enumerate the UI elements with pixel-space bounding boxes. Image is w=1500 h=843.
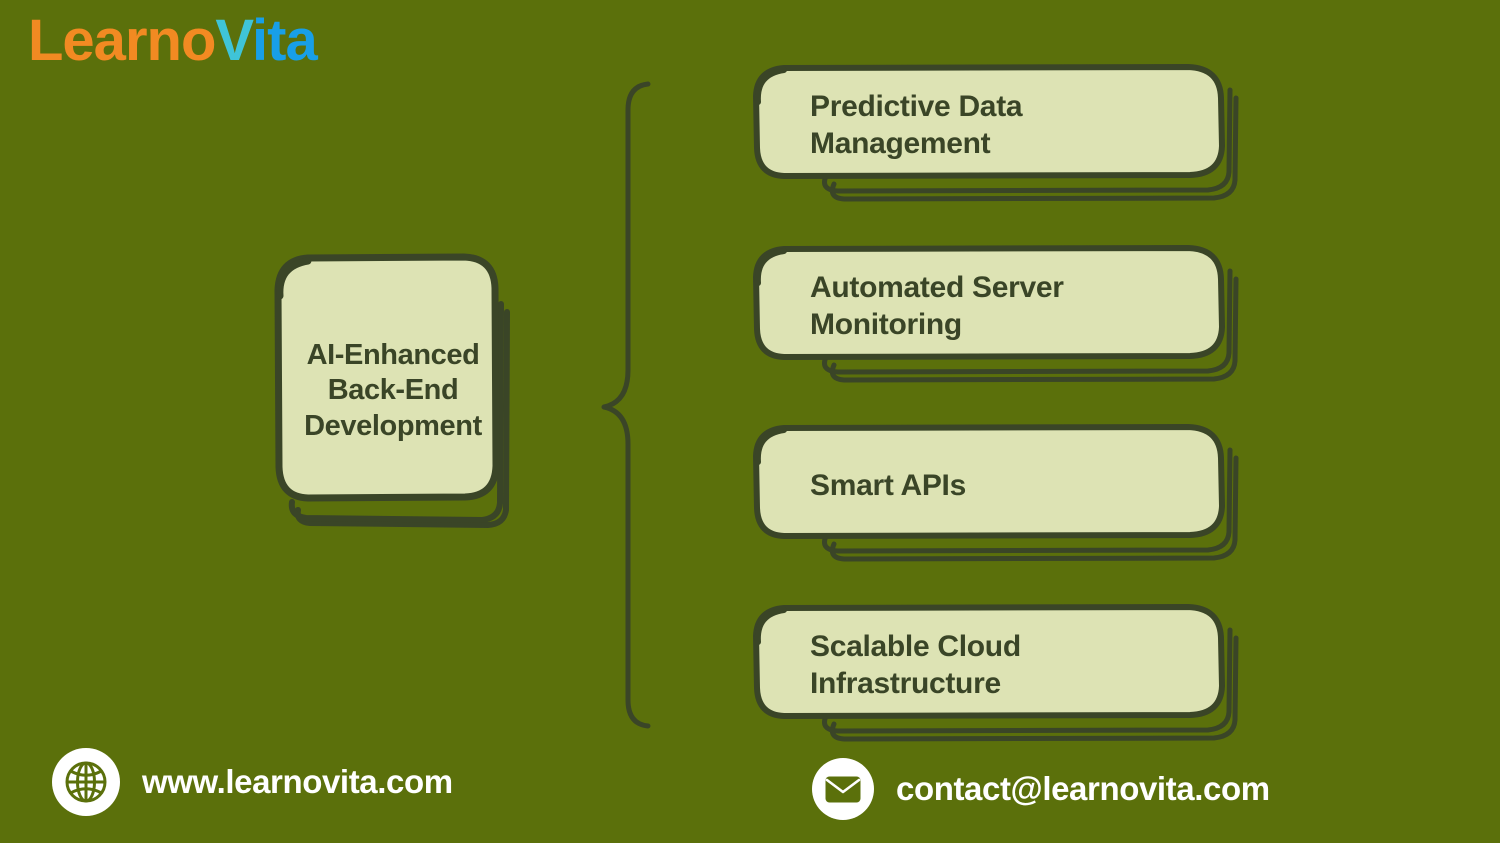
central-node-card[interactable]: AI-Enhanced Back-End Development: [268, 252, 518, 530]
central-node-label: AI-Enhanced Back-End Development: [282, 252, 504, 530]
branch-label: Scalable Cloud Infrastructure: [810, 602, 1218, 730]
branch-card[interactable]: Smart APIs: [748, 422, 1248, 550]
globe-icon: [52, 748, 120, 816]
footer-email[interactable]: contact@learnovita.com: [812, 758, 1270, 820]
logo-text-v: V: [215, 8, 252, 73]
footer-website[interactable]: www.learnovita.com: [52, 748, 453, 816]
curly-brace-icon: [598, 80, 678, 730]
branch-label: Predictive Data Management: [810, 62, 1218, 190]
branch-card[interactable]: Automated Server Monitoring: [748, 243, 1248, 371]
branch-label: Automated Server Monitoring: [810, 243, 1218, 371]
logo-text-ita: ita: [252, 8, 317, 73]
logo-text-learn: Learn: [28, 8, 181, 73]
website-label: www.learnovita.com: [142, 763, 453, 801]
logo-text-o: o: [181, 8, 215, 73]
infographic-slide: LearnoVita AI-Enhanced Back-End Developm…: [0, 0, 1500, 843]
branch-card[interactable]: Scalable Cloud Infrastructure: [748, 602, 1248, 730]
branch-card[interactable]: Predictive Data Management: [748, 62, 1248, 190]
branch-label: Smart APIs: [810, 422, 1218, 550]
learnovita-logo[interactable]: LearnoVita: [28, 12, 317, 70]
email-label: contact@learnovita.com: [896, 770, 1270, 808]
envelope-icon: [812, 758, 874, 820]
